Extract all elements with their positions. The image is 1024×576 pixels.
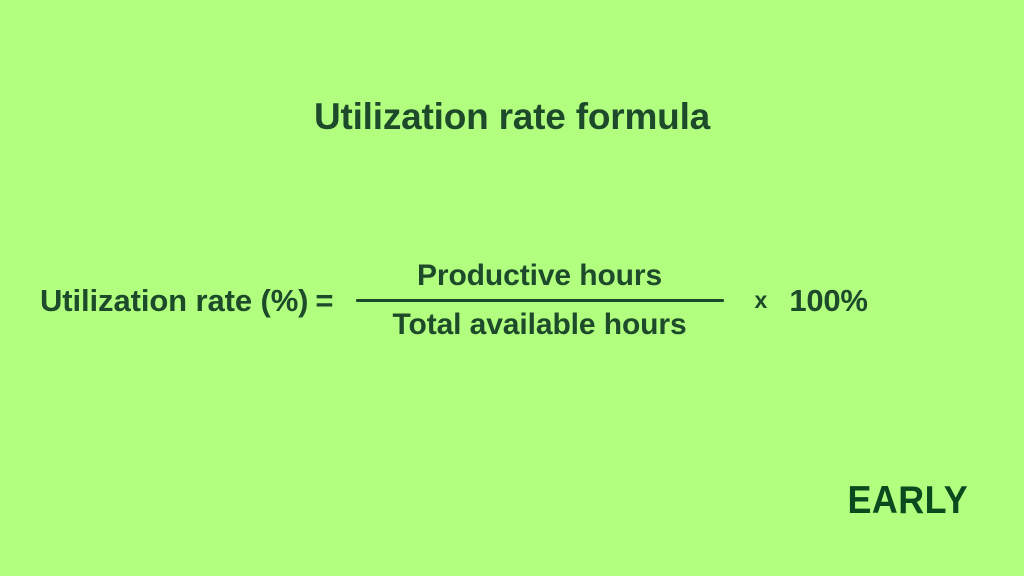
- slide-canvas: Utilization rate formula Utilization rat…: [0, 0, 1024, 576]
- formula-numerator: Productive hours: [417, 256, 662, 296]
- formula-expression: Utilization rate (%) = Productive hours …: [40, 238, 984, 362]
- formula-denominator: Total available hours: [392, 305, 686, 345]
- early-logo: EARLY: [847, 481, 968, 520]
- formula-multiply-value: 100%: [789, 285, 868, 316]
- page-title: Utilization rate formula: [0, 92, 1024, 142]
- formula-fraction: Productive hours Total available hours: [356, 256, 724, 345]
- formula-equals-sign: =: [315, 285, 333, 316]
- formula-multiply-sign: x: [755, 289, 768, 312]
- formula-left-hand-side: Utilization rate (%): [40, 285, 308, 316]
- fraction-rule-line: [356, 299, 724, 302]
